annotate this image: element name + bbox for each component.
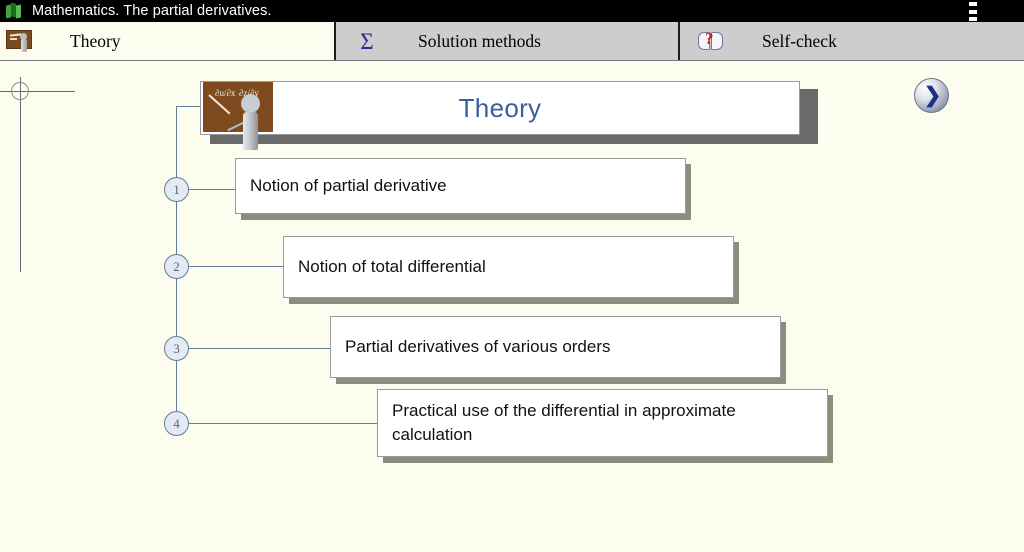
outline-item-3[interactable]: Partial derivatives of various orders [330,316,781,378]
books-stack-icon [6,3,22,19]
connector-header [176,106,201,107]
connector-item-2 [189,266,283,267]
tab-self-check-label: Self-check [762,31,837,52]
tab-bar: Theory Σ Solution methods ? Self-check [0,22,1024,61]
tab-solution-methods[interactable]: Σ Solution methods [336,22,680,60]
sigma-icon: Σ [354,28,380,54]
outline-node-3[interactable]: 3 [164,336,189,361]
outline-item-1-label: Notion of partial derivative [236,174,457,198]
outline-node-2[interactable]: 2 [164,254,189,279]
outline-item-3-label: Partial derivatives of various orders [331,335,621,359]
page-title: Theory [459,93,542,124]
outline-item-2-label: Notion of total differential [284,255,496,279]
theory-header-box: Theory [200,81,800,135]
chevron-right-icon: ❯ [924,85,942,106]
outline-node-2-number: 2 [173,259,180,275]
theory-header: Theory ∂u/∂x ∂z/∂y [200,81,800,135]
vertical-dots-icon[interactable] [969,2,977,21]
chalk-formula-left: ∂u/∂x [215,88,235,98]
outline-item-4-label: Practical use of the differential in app… [378,399,827,447]
connector-item-3 [189,348,330,349]
chalkboard-teacher-icon: ∂u/∂x ∂z/∂y [203,82,273,152]
window-title: Mathematics. The partial derivatives. [32,3,272,19]
chalkboard-teacher-icon [6,29,32,53]
content-area: Theory ∂u/∂x ∂z/∂y 1 Notion of partial d… [0,61,1024,552]
tab-solution-methods-label: Solution methods [418,31,541,52]
book-question-icon: ? [698,30,724,52]
outline-node-1-number: 1 [173,182,180,198]
outline-node-1[interactable]: 1 [164,177,189,202]
outline-node-4[interactable]: 4 [164,411,189,436]
outline-item-4[interactable]: Practical use of the differential in app… [377,389,828,457]
window-title-bar: Mathematics. The partial derivatives. [0,0,1024,22]
outline-item-2[interactable]: Notion of total differential [283,236,734,298]
outline-item-1[interactable]: Notion of partial derivative [235,158,686,214]
connector-item-1 [189,189,236,190]
outline-node-3-number: 3 [173,341,180,357]
tab-theory[interactable]: Theory [0,22,336,60]
outline-node-4-number: 4 [173,416,180,432]
tab-self-check[interactable]: ? Self-check [680,22,1024,60]
tab-theory-label: Theory [70,31,121,52]
next-button[interactable]: ❯ [914,78,949,113]
connector-item-4 [189,423,377,424]
